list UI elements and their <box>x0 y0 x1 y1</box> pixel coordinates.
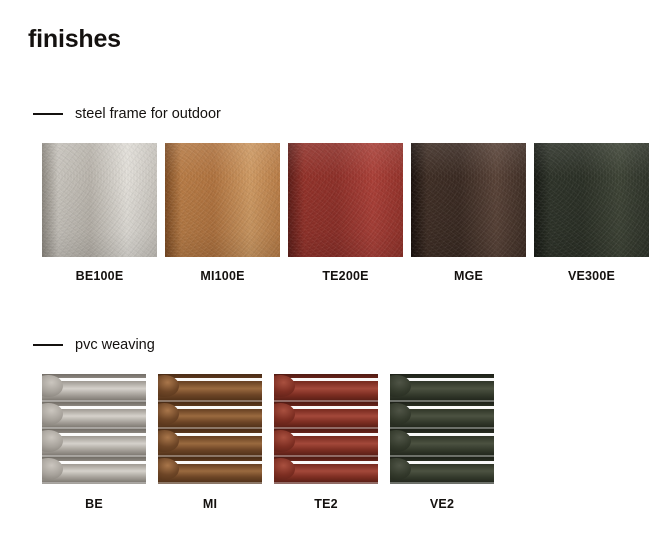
weave-label: VE2 <box>430 498 454 511</box>
weave-band <box>42 374 146 402</box>
weave-band <box>158 457 262 485</box>
swatch-label: VE300E <box>568 270 615 283</box>
color-swatch-ve300e[interactable] <box>534 143 649 257</box>
weave-band <box>42 402 146 430</box>
page-title: finishes <box>28 27 121 52</box>
weave-gap <box>274 482 378 484</box>
section-label: pvc weaving <box>75 338 155 353</box>
weave-highlight <box>57 433 146 436</box>
weave-highlight <box>289 461 378 464</box>
weave-gap <box>158 482 262 484</box>
finishes-page: finishes steel frame for outdoor BE100EM… <box>0 0 650 545</box>
weave-highlight <box>289 378 378 381</box>
section-rule-dash-icon <box>33 344 63 346</box>
weave-band <box>42 457 146 485</box>
swatch-row-weave: BEMITE2VE2 <box>42 374 494 511</box>
section-rule-dash-icon <box>33 113 63 115</box>
weave-band <box>390 457 494 485</box>
weave-swatch-mi[interactable] <box>158 374 262 484</box>
weave-highlight <box>405 378 494 381</box>
swatch-texture <box>534 143 649 257</box>
swatch-cell[interactable]: MI100E <box>165 143 280 283</box>
weave-band <box>42 429 146 457</box>
swatch-cell[interactable]: TE200E <box>288 143 403 283</box>
weave-swatch-be[interactable] <box>42 374 146 484</box>
swatch-label: MGE <box>454 270 483 283</box>
swatch-texture <box>411 143 526 257</box>
swatch-texture <box>288 143 403 257</box>
section-label: steel frame for outdoor <box>75 107 221 122</box>
weave-swatch-te2[interactable] <box>274 374 378 484</box>
weave-band <box>390 429 494 457</box>
weave-gap <box>42 482 146 484</box>
swatch-texture <box>42 143 157 257</box>
swatch-cell[interactable]: BE100E <box>42 143 157 283</box>
weave-band <box>390 374 494 402</box>
swatch-label: MI100E <box>200 270 244 283</box>
weave-band <box>274 429 378 457</box>
swatch-texture <box>165 143 280 257</box>
swatch-label: BE100E <box>76 270 124 283</box>
weave-band <box>274 374 378 402</box>
weave-cell[interactable]: VE2 <box>390 374 494 511</box>
weave-band <box>390 402 494 430</box>
color-swatch-be100e[interactable] <box>42 143 157 257</box>
color-swatch-mi100e[interactable] <box>165 143 280 257</box>
weave-swatch-ve2[interactable] <box>390 374 494 484</box>
weave-label: BE <box>85 498 103 511</box>
weave-band <box>158 374 262 402</box>
weave-highlight <box>405 406 494 409</box>
weave-cell[interactable]: TE2 <box>274 374 378 511</box>
weave-highlight <box>405 461 494 464</box>
swatch-cell[interactable]: MGE <box>411 143 526 283</box>
weave-band <box>274 402 378 430</box>
weave-highlight <box>289 433 378 436</box>
section-header: steel frame for outdoor <box>33 107 221 122</box>
weave-band <box>158 429 262 457</box>
weave-highlight <box>405 433 494 436</box>
weave-highlight <box>173 433 262 436</box>
swatch-cell[interactable]: VE300E <box>534 143 649 283</box>
weave-highlight <box>57 378 146 381</box>
swatch-label: TE200E <box>322 270 368 283</box>
color-swatch-mge[interactable] <box>411 143 526 257</box>
weave-label: TE2 <box>314 498 338 511</box>
weave-highlight <box>57 461 146 464</box>
weave-label: MI <box>203 498 217 511</box>
section-header: pvc weaving <box>33 338 155 353</box>
weave-highlight <box>57 406 146 409</box>
swatch-row-steel: BE100EMI100ETE200EMGEVE300E <box>42 143 649 283</box>
weave-highlight <box>173 406 262 409</box>
weave-band <box>158 402 262 430</box>
weave-cell[interactable]: MI <box>158 374 262 511</box>
weave-highlight <box>173 378 262 381</box>
weave-band <box>274 457 378 485</box>
weave-highlight <box>173 461 262 464</box>
weave-highlight <box>289 406 378 409</box>
color-swatch-te200e[interactable] <box>288 143 403 257</box>
weave-cell[interactable]: BE <box>42 374 146 511</box>
weave-gap <box>390 482 494 484</box>
